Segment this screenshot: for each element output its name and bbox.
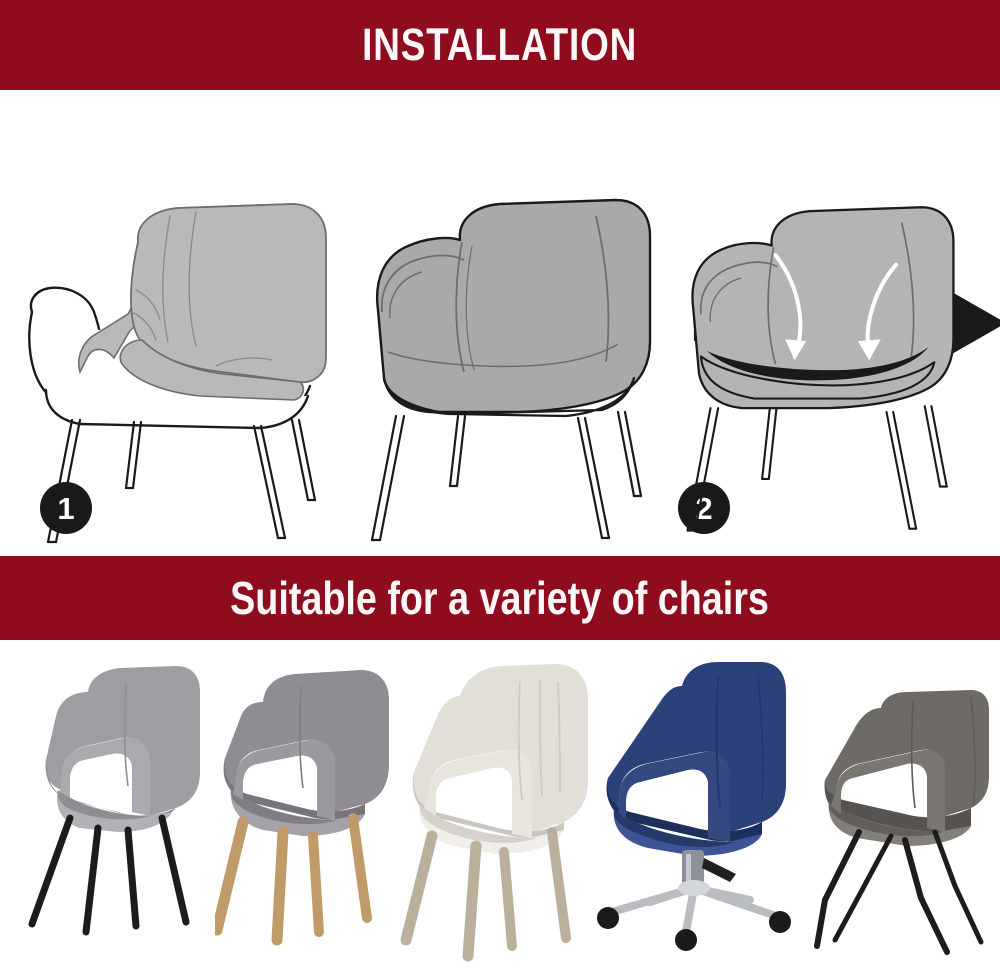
step-2-illustration bbox=[330, 90, 660, 556]
chair-2-legs bbox=[217, 818, 367, 940]
chair-5-legs bbox=[817, 832, 981, 952]
chair-2-body bbox=[223, 670, 389, 836]
chair-photo-cream-wood-legs bbox=[400, 640, 615, 976]
installation-step-1: 1 bbox=[10, 90, 340, 556]
suitable-chairs-banner-title: Suitable for a variety of chairs bbox=[231, 571, 770, 625]
suitable-chairs-banner: Suitable for a variety of chairs bbox=[0, 556, 1000, 640]
chair-1-body bbox=[46, 666, 200, 832]
chair-photo-grey-black-legs bbox=[0, 640, 230, 976]
product-infographic: INSTALLATION bbox=[0, 0, 1000, 976]
installation-step-3: 3 bbox=[655, 90, 985, 556]
chair-photo-taupe-black-legs bbox=[795, 640, 1000, 976]
installation-steps-section: 1 bbox=[0, 90, 1000, 556]
step-2-covered-chair bbox=[377, 200, 650, 416]
chair-1-legs bbox=[32, 818, 186, 932]
chair-photo-grey-wood-legs bbox=[215, 640, 430, 976]
height-lever bbox=[702, 858, 736, 882]
step-3-illustration bbox=[655, 90, 985, 556]
installation-banner: INSTALLATION bbox=[0, 0, 1000, 90]
chair-photo-row bbox=[0, 640, 1000, 976]
chair-4-base bbox=[597, 880, 791, 951]
installation-step-2: 2 bbox=[330, 90, 660, 556]
chair-3-body bbox=[413, 664, 588, 854]
installation-banner-title: INSTALLATION bbox=[363, 19, 638, 71]
chair-5-body bbox=[824, 690, 989, 846]
chair-4-body bbox=[606, 662, 786, 856]
chair-photo-navy-office bbox=[590, 640, 805, 976]
step-3-fitted-chair bbox=[692, 207, 953, 408]
step-1-number-badge: 1 bbox=[40, 482, 92, 534]
